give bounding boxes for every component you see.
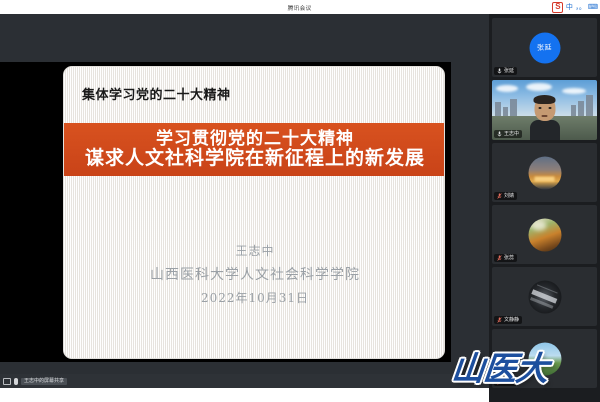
participant-name: 刘婧 [504, 194, 514, 199]
stage-right-band [451, 14, 489, 388]
participant-name: 张延 [504, 69, 514, 74]
microphone-muted-icon [497, 193, 502, 199]
slide-title-banner: 学习贯彻党的二十大精神 谋求人文社科学院在新征程上的新发展 [64, 123, 445, 176]
ime-keyboard-icon[interactable]: ⌨ [588, 4, 598, 11]
slide-header-title: 集体学习党的二十大精神 [82, 84, 231, 103]
participant-name-badge: 张蕊 [494, 254, 517, 262]
shared-screen-stage: 集体学习党的二十大精神 学习贯彻党的二十大精神 谋求人文社科学院在新征程上的新发… [0, 14, 489, 388]
slide-banner-line-2: 谋求人文社科学院在新征程上的新发展 [85, 148, 425, 169]
presentation-slide: 集体学习党的二十大精神 学习贯彻党的二十大精神 谋求人文社科学院在新征程上的新发… [63, 66, 445, 359]
microphone-muted-icon [497, 317, 502, 323]
participant-name: 张蕊 [504, 256, 514, 261]
screen-share-label: 王志中的屏幕共享 [21, 378, 67, 385]
monitor-icon [3, 378, 11, 385]
slide-banner-line-1: 学习贯彻党的二十大精神 [156, 130, 354, 148]
window-title-bar: 腾讯会议 [0, 0, 600, 14]
avatar [528, 156, 561, 189]
microphone-muted-icon [497, 379, 502, 385]
avatar: 张延 [529, 32, 560, 63]
avatar [528, 280, 561, 313]
stage-top-band [0, 14, 489, 62]
participant-name-badge: 文静静 [494, 316, 522, 324]
participant-name: 李娜 [504, 380, 514, 385]
slide-presenter-name: 王志中 [235, 242, 274, 259]
microphone-icon [14, 378, 18, 385]
participant-name: 文静静 [504, 318, 519, 323]
avatar [528, 218, 561, 251]
ime-language-toggle-icon[interactable]: 中 [565, 4, 573, 11]
ime-tray: S 中 ，。 ⌨ [552, 1, 598, 13]
participant-tile[interactable]: 文静静 [492, 267, 597, 326]
participant-name-badge: 刘婧 [494, 192, 517, 200]
participant-name: 王志中 [504, 132, 519, 137]
slide-date: 2022年10月31日 [201, 289, 309, 306]
participant-name-badge: 张延 [494, 67, 517, 75]
participant-tile[interactable]: 刘婧 [492, 143, 597, 202]
microphone-muted-icon [497, 68, 502, 74]
participant-name-badge: 李娜 [494, 378, 517, 386]
screen-share-status-bar: 王志中的屏幕共享 [0, 374, 489, 388]
ime-punctuation-toggle-icon[interactable]: ，。 [575, 4, 586, 11]
microphone-icon [497, 131, 502, 137]
slide-affiliation: 山西医科大学人文社会科学学院 [150, 264, 360, 284]
participant-tile[interactable]: 王志中 [492, 80, 597, 140]
window-title: 腾讯会议 [288, 3, 312, 12]
avatar [528, 342, 561, 375]
participant-tile[interactable]: 张蕊 [492, 205, 597, 264]
microphone-muted-icon [497, 255, 502, 261]
participant-name-badge: 王志中 [494, 130, 522, 138]
slide-body: 王志中 山西医科大学人文社会科学学院 2022年10月31日 [64, 242, 445, 306]
participant-rail[interactable]: 张延 张延 [489, 14, 600, 402]
sogou-ime-logo-icon[interactable]: S [552, 2, 563, 13]
page-bottom-strip [0, 388, 489, 402]
participant-tile[interactable]: 李娜 [492, 329, 597, 388]
participant-tile[interactable]: 张延 张延 [492, 18, 597, 77]
